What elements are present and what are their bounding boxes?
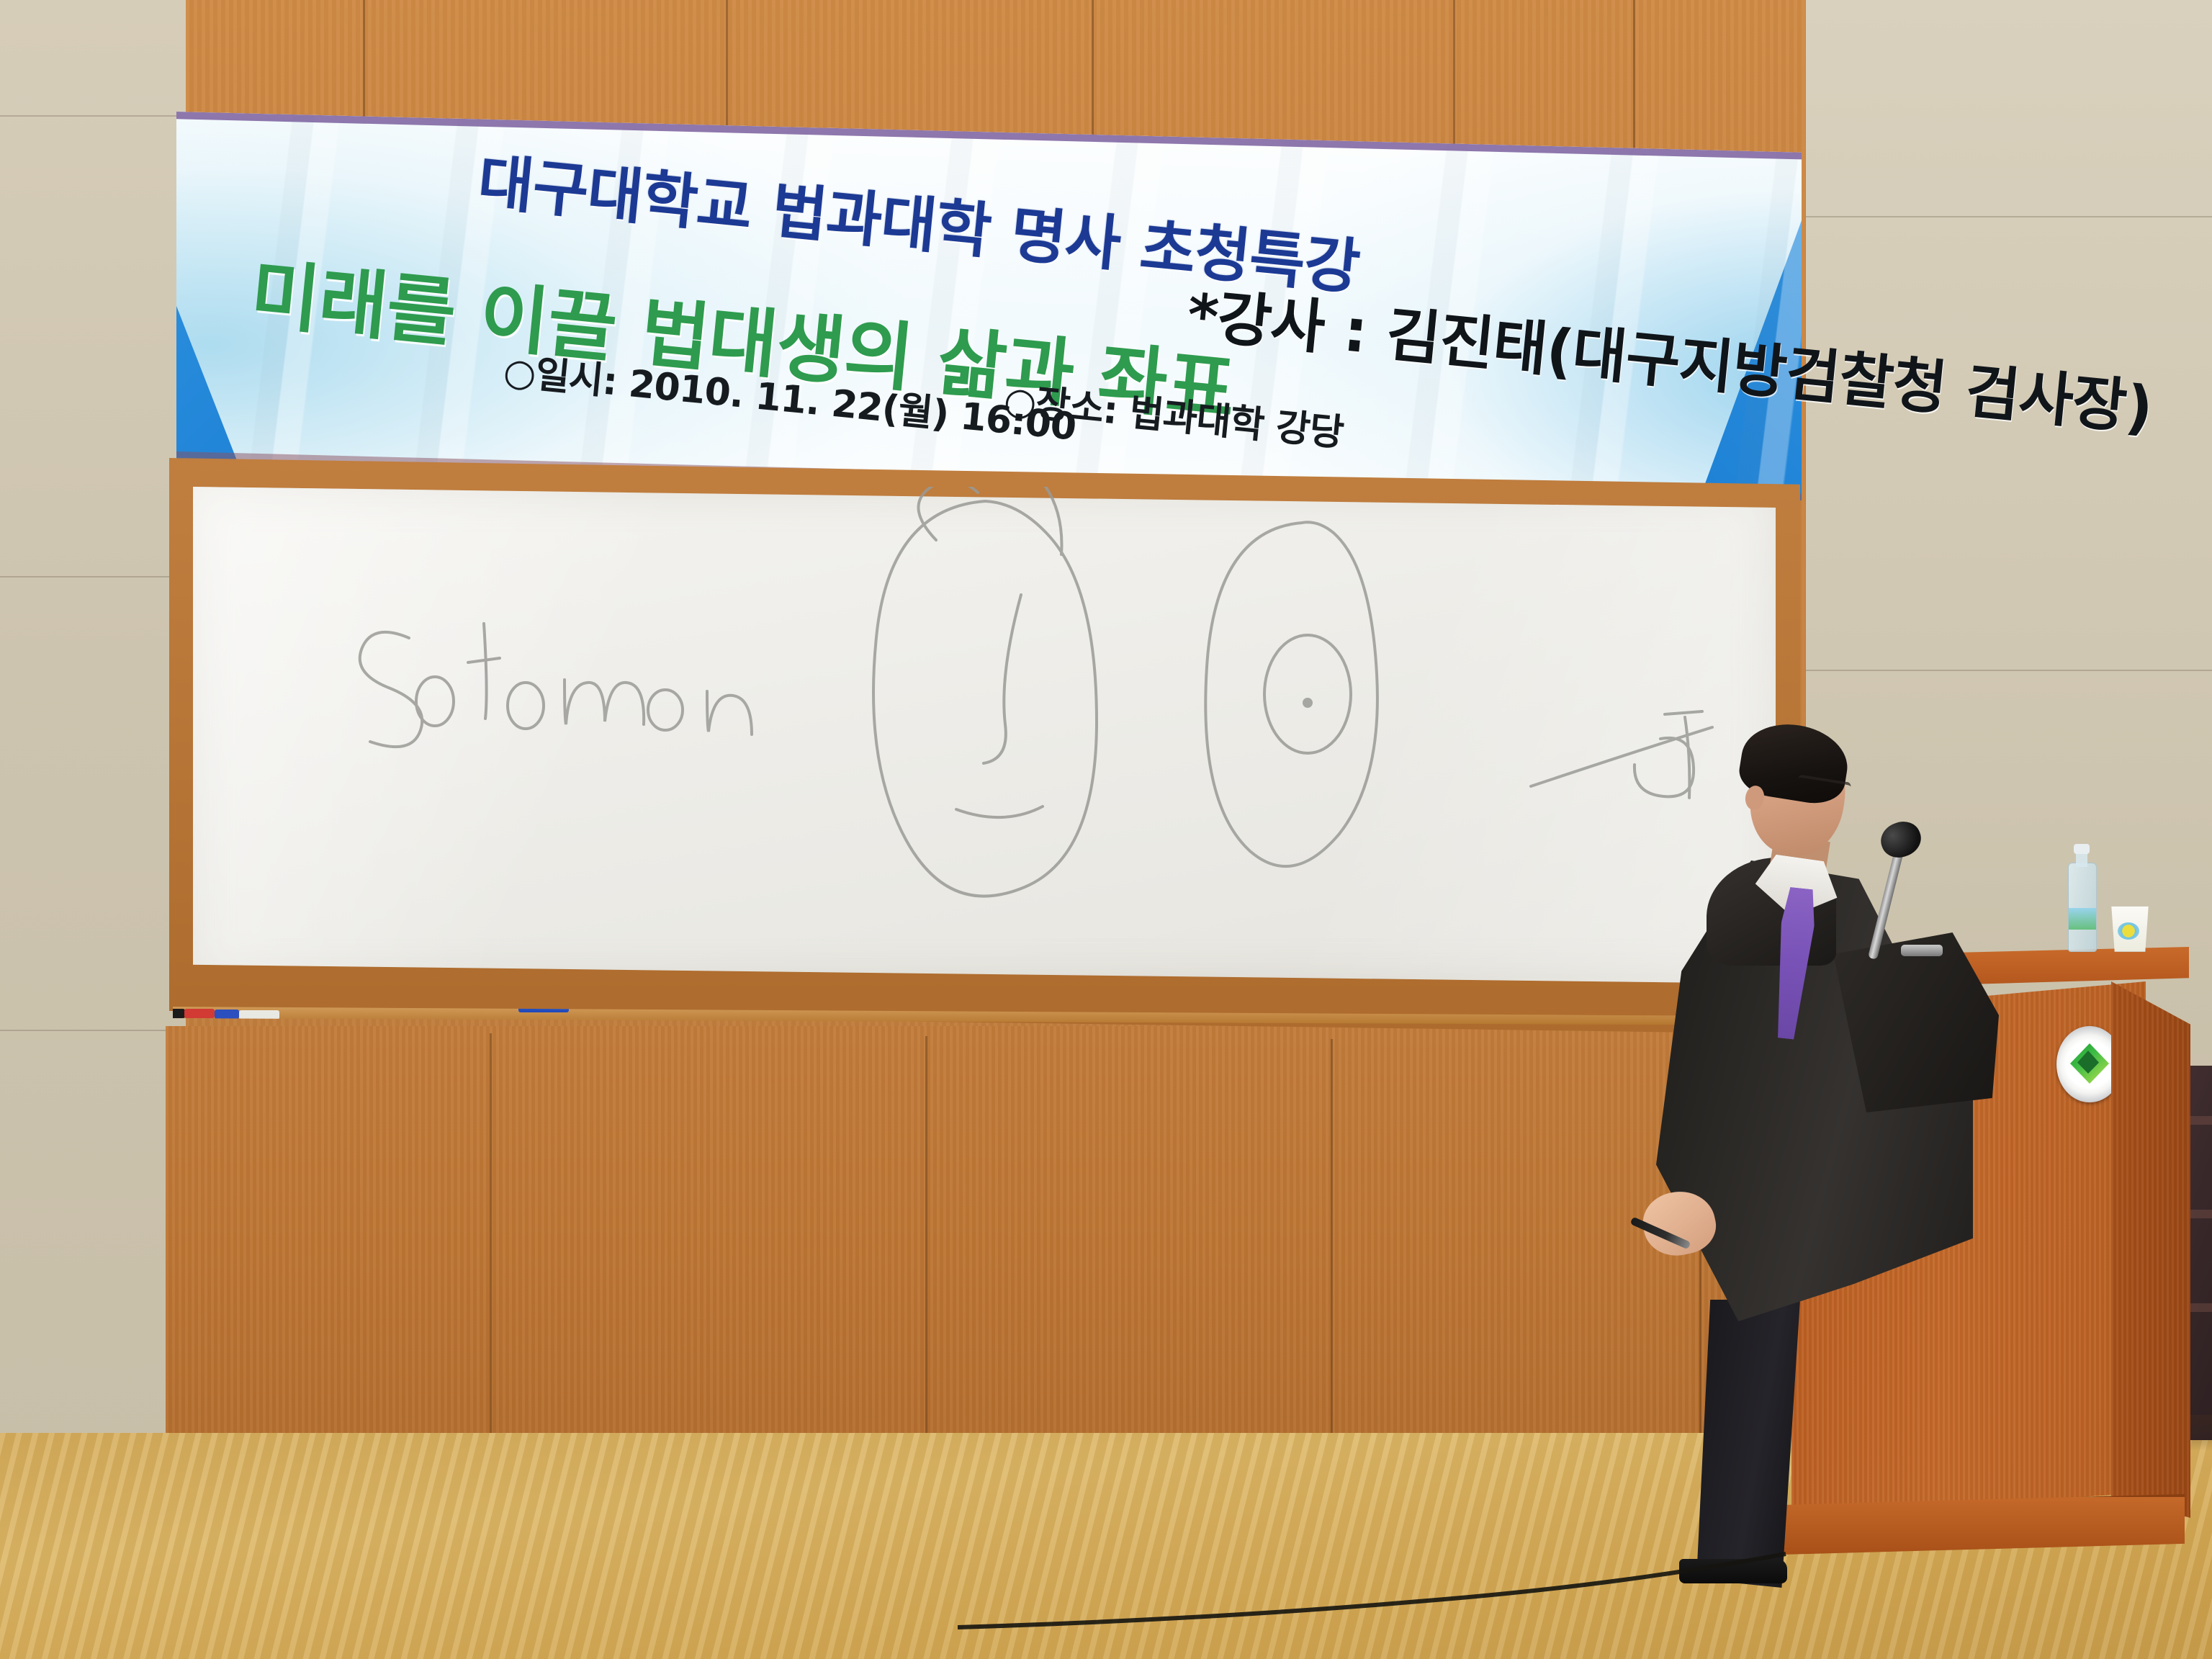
panel-seam <box>1331 1039 1333 1462</box>
blue-marker[interactable] <box>215 1010 239 1019</box>
red-marker[interactable] <box>184 1009 215 1018</box>
whiteboard-glare <box>193 487 1776 984</box>
wood-grain-texture <box>166 1026 1815 1473</box>
wall-seam <box>1793 216 2212 217</box>
podium-side-face <box>2111 981 2190 1518</box>
speaker-leg <box>1685 1300 1800 1588</box>
event-banner: 대구대학교 법과대학 명사 초청특강 미래를 이끌 법대생의 삶과 좌표 *강사… <box>176 112 1802 500</box>
water-bottle <box>2068 844 2095 950</box>
bottle-label <box>2069 908 2096 930</box>
lower-wood-wall <box>166 1026 1815 1473</box>
whiteboard-surface <box>193 487 1776 984</box>
panel-seam <box>726 0 728 130</box>
bottle-cap <box>2074 844 2090 854</box>
podium-grain <box>2111 981 2190 1518</box>
microphone-base <box>1901 945 1943 956</box>
microphone-cable <box>958 1548 1793 1635</box>
cup-logo-icon <box>2118 922 2139 940</box>
lecture-hall-photo: 대구대학교 법과대학 명사 초청특강 미래를 이끌 법대생의 삶과 좌표 *강사… <box>0 0 2212 1659</box>
bottle-body <box>2068 863 2097 952</box>
wall-seam <box>1793 670 2212 671</box>
panel-seam <box>925 1036 927 1462</box>
white-marker[interactable] <box>239 1010 279 1020</box>
panel-seam <box>490 1033 492 1462</box>
speaker-person <box>1663 716 2023 1581</box>
wall-seam <box>0 576 196 577</box>
paper-cup <box>2110 906 2150 952</box>
panel-seam <box>363 0 365 130</box>
wall-seam <box>0 115 196 117</box>
